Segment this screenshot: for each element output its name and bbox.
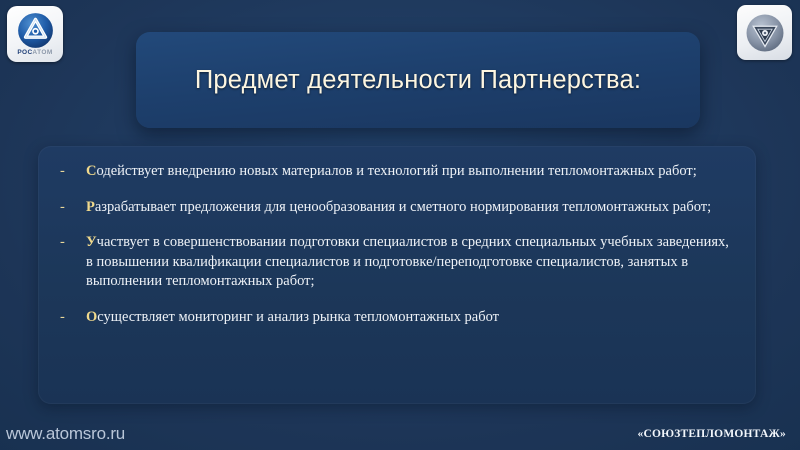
content-panel: - Содействует внедрению новых материалов… [38, 146, 756, 404]
triangle-emblem-icon [744, 12, 786, 54]
rosatom-wordmark: РОСАТОМ [17, 50, 52, 57]
list-item: - Содействует внедрению новых материалов… [60, 162, 734, 182]
atom-triangle-icon [17, 12, 54, 49]
bullet-marker: - [60, 162, 86, 182]
rosatom-logo: РОСАТОМ [7, 6, 63, 62]
list-item: - Участвует в совершенствовании подготов… [60, 233, 734, 292]
bullet-marker: - [60, 308, 86, 328]
bullet-body: частвует в совершенствовании подготовки … [86, 234, 729, 289]
soyuzteplomontazh-logo [737, 5, 792, 60]
rosatom-wordmark-part2: АТОМ [32, 49, 52, 56]
bullet-lead-letter: О [86, 309, 97, 325]
page-title: Предмет деятельности Партнерства: [195, 66, 641, 95]
bullet-text: Осуществляет мониторинг и анализ рынка т… [86, 308, 734, 328]
list-item: - Осуществляет мониторинг и анализ рынка… [60, 308, 734, 328]
list-item: - Разрабатывает предложения для ценообра… [60, 198, 734, 218]
bullet-text: Разрабатывает предложения для ценообразо… [86, 198, 734, 218]
footer-brand-name: «СОЮЗТЕПЛОМОНТАЖ» [638, 428, 787, 440]
bullet-body: одействует внедрению новых материалов и … [96, 163, 696, 179]
slide: РОСАТОМ Предмет деятельности Партнерства… [0, 0, 800, 450]
bullet-lead-letter: У [86, 234, 97, 250]
title-banner: Предмет деятельности Партнерства: [136, 32, 700, 128]
footer-website-url[interactable]: www.atomsro.ru [6, 424, 125, 444]
bullet-lead-letter: Р [86, 199, 95, 215]
rosatom-wordmark-part1: РОС [17, 49, 32, 56]
bullet-body: азрабатывает предложения для ценообразов… [95, 199, 711, 215]
bullet-body: существляет мониторинг и анализ рынка те… [97, 309, 499, 325]
bullet-marker: - [60, 198, 86, 218]
bullet-text: Участвует в совершенствовании подготовки… [86, 233, 734, 292]
bullet-list: - Содействует внедрению новых материалов… [60, 162, 734, 327]
bullet-text: Содействует внедрению новых материалов и… [86, 162, 734, 182]
bullet-marker: - [60, 233, 86, 253]
bullet-lead-letter: С [86, 163, 96, 179]
